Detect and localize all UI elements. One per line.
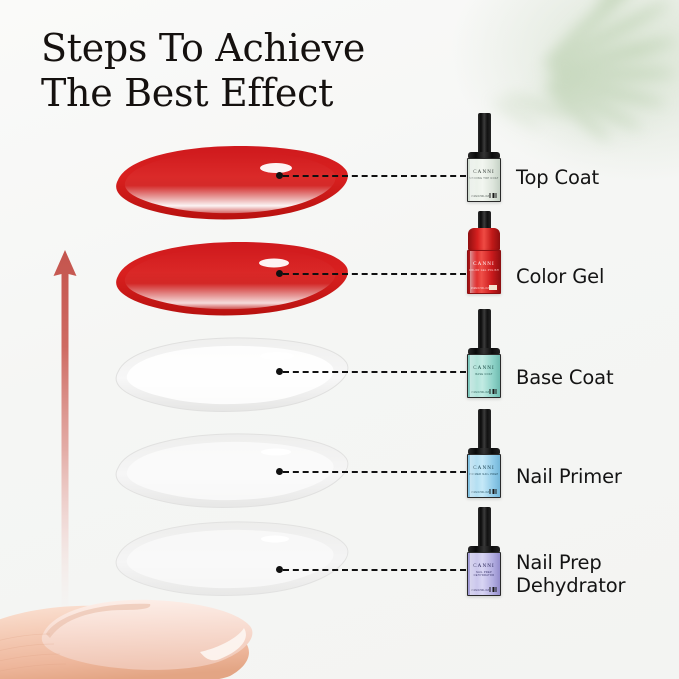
bottle-cap — [478, 211, 491, 229]
bottle-brand: CANNI — [468, 365, 500, 371]
palm-leaf-decoration — [484, 0, 679, 150]
bottle-brand: CANNI — [468, 261, 500, 267]
bottle-subtext: PRIMER NAIL PREP — [468, 473, 500, 476]
bottle-subtext: BASE COAT — [468, 373, 500, 376]
bottle-brand: CANNI — [468, 563, 500, 569]
bottle-cap — [478, 409, 491, 449]
bottle-body: CANNI COLOR GEL POLISH 15ML/0.5FL.OZ — [467, 250, 501, 294]
step-label-top-coat: Top Coat — [516, 166, 599, 189]
connector-dot — [276, 566, 283, 573]
step-label-nail-primer: Nail Primer — [516, 465, 622, 488]
bottle-body: CANNI NAIL PREP DEHYDRATOR 15ML/0.5FL.OZ — [467, 552, 501, 596]
barcode-icon — [489, 285, 497, 290]
connector-line-base-coat — [276, 370, 466, 372]
barcode-icon — [489, 193, 497, 198]
bottle-brand: CANNI — [468, 465, 500, 471]
bottle-footline: 15ML/0.5FL.OZ — [471, 492, 489, 494]
bottle-cap — [478, 113, 491, 153]
nail-layer-top-coat — [104, 144, 354, 224]
connector-dot — [276, 468, 283, 475]
bottle-brand: CANNI — [468, 169, 500, 175]
connector-dot — [276, 172, 283, 179]
connector-dot — [276, 270, 283, 277]
connector-dash — [283, 471, 466, 473]
bottle-body: CANNI SHINING TOP COAT 15ML/0.5FL.OZ — [467, 158, 501, 202]
barcode-icon — [489, 587, 497, 592]
bottle-color-gel[interactable]: CANNI COLOR GEL POLISH 15ML/0.5FL.OZ — [467, 211, 501, 294]
connector-dash — [283, 175, 466, 177]
connector-line-color-gel — [276, 272, 466, 274]
nail-layer-color-gel — [104, 240, 354, 320]
connector-dot — [276, 368, 283, 375]
bottle-subtext: COLOR GEL POLISH — [468, 269, 500, 272]
bottle-footline: 15ML/0.5FL.OZ — [471, 590, 489, 592]
connector-dash — [283, 273, 466, 275]
bottle-base-coat[interactable]: CANNI BASE COAT 15ML/0.5FL.OZ — [467, 309, 501, 398]
connector-line-nail-prep-dehydrator — [276, 568, 466, 570]
bottle-nail-primer[interactable]: CANNI PRIMER NAIL PREP 15ML/0.5FL.OZ — [467, 409, 501, 498]
connector-dash — [283, 371, 466, 373]
bottle-footline: 15ML/0.5FL.OZ — [471, 196, 489, 198]
nail-layer-base-coat — [104, 336, 354, 416]
bottle-subtext: SHINING TOP COAT — [468, 177, 500, 180]
step-label-nail-prep-dehydrator: Nail Prep Dehydrator — [516, 551, 625, 597]
bottle-footline: 15ML/0.5FL.OZ — [471, 392, 489, 394]
bottle-subtext: NAIL PREP DEHYDRATOR — [468, 571, 500, 577]
fingertip-with-natural-nail — [0, 552, 294, 679]
bottle-footline: 15ML/0.5FL.OZ — [471, 288, 489, 290]
bottle-cap — [478, 507, 491, 547]
connector-line-top-coat — [276, 174, 466, 176]
barcode-icon — [489, 489, 497, 494]
bottle-nail-prep-dehydrator[interactable]: CANNI NAIL PREP DEHYDRATOR 15ML/0.5FL.OZ — [467, 507, 501, 596]
bottle-body: CANNI PRIMER NAIL PREP 15ML/0.5FL.OZ — [467, 454, 501, 498]
bottle-body: CANNI BASE COAT 15ML/0.5FL.OZ — [467, 354, 501, 398]
bottle-top-coat[interactable]: CANNI SHINING TOP COAT 15ML/0.5FL.OZ — [467, 113, 501, 202]
infographic-canvas: Steps To Achieve The Best Effect — [0, 0, 679, 679]
step-label-base-coat: Base Coat — [516, 366, 613, 389]
barcode-icon — [489, 389, 497, 394]
step-label-color-gel: Color Gel — [516, 265, 604, 288]
connector-dash — [283, 569, 466, 571]
connector-line-nail-primer — [276, 470, 466, 472]
bottle-cap — [478, 309, 491, 349]
page-title: Steps To Achieve The Best Effect — [41, 26, 365, 116]
bottle-shoulder — [468, 228, 500, 250]
